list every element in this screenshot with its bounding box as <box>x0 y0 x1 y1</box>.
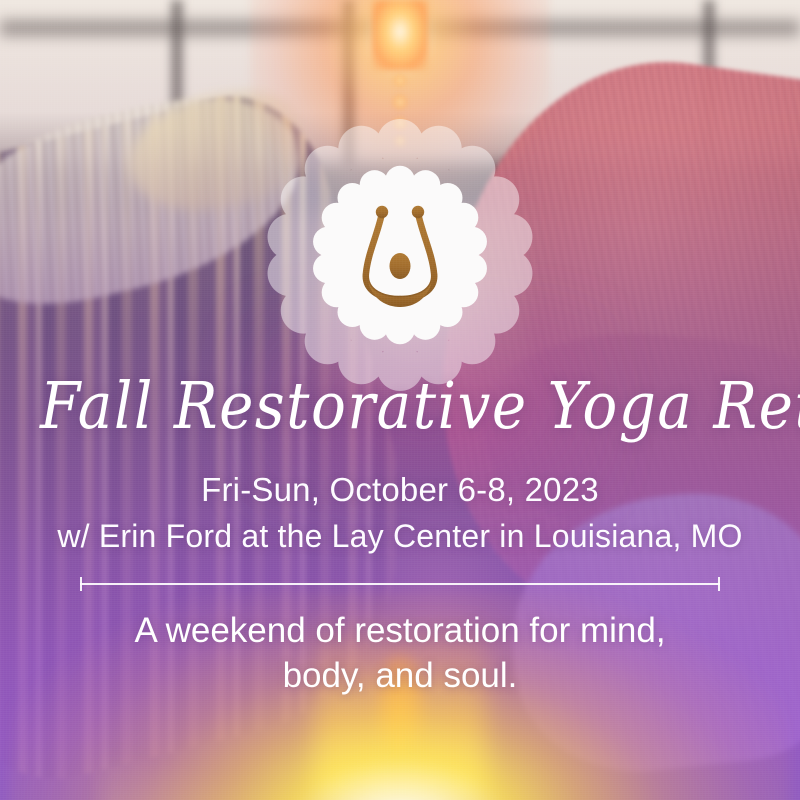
page-title: Fall Restorative Yoga Retreat <box>0 372 800 440</box>
lotus-figure-logo-icon <box>352 199 448 311</box>
tagline-line-1: A weekend of restoration for mind, <box>80 609 720 654</box>
divider-rule <box>80 583 720 585</box>
event-dates: Fri-Sun, October 6-8, 2023 <box>0 467 800 514</box>
event-host-venue: w/ Erin Ford at the Lay Center in Louisi… <box>0 514 800 559</box>
event-details: Fri-Sun, October 6-8, 2023 w/ Erin Ford … <box>0 467 800 559</box>
text-content: Fall Restorative Yoga Retreat Fri-Sun, O… <box>0 372 800 699</box>
divider <box>80 577 720 591</box>
logo-badge <box>260 115 540 395</box>
lens-flare-core <box>372 0 428 70</box>
poster-canvas: Fall Restorative Yoga Retreat Fri-Sun, O… <box>0 0 800 800</box>
tagline: A weekend of restoration for mind, body,… <box>0 609 800 699</box>
divider-end-cap-right <box>718 577 720 591</box>
lens-flare-orb <box>392 94 408 110</box>
tagline-line-2: body, and soul. <box>80 654 720 699</box>
lens-flare-orb <box>394 74 407 87</box>
